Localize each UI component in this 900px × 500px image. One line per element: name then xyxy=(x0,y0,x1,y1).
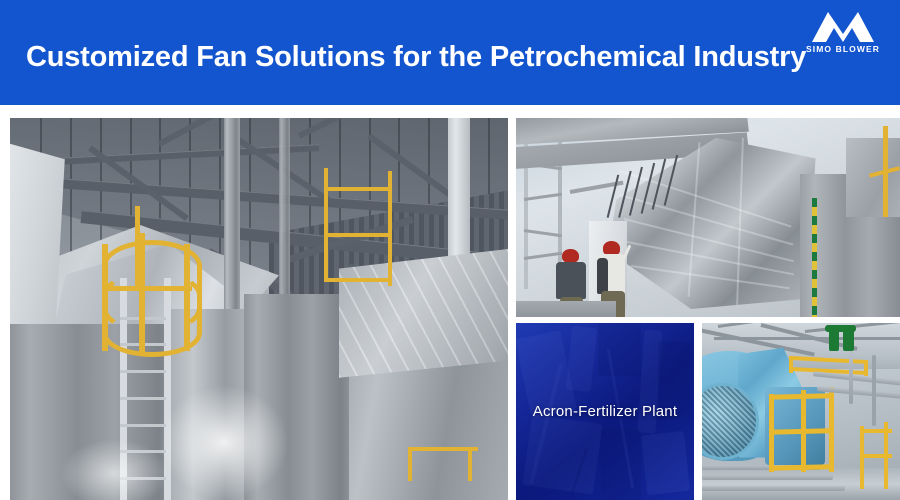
simo-blower-m-mark-icon xyxy=(804,10,882,42)
duct-inspection-photo xyxy=(516,118,900,317)
photo-caption-acron: Acron-Fertilizer Plant xyxy=(516,402,694,422)
gallery-photo-ductwork[interactable] xyxy=(516,118,900,317)
gallery-photo-fan[interactable] xyxy=(702,323,900,500)
brand-logo[interactable]: SIMO BLOWER xyxy=(804,10,882,58)
plant-interior-photo xyxy=(10,118,508,500)
brand-logo-text: SIMO BLOWER xyxy=(804,44,882,55)
centrifugal-fan-photo xyxy=(702,323,900,500)
gallery-photo-acron[interactable]: Acron-Fertilizer Plant xyxy=(516,323,694,500)
acron-fertilizer-plant-photo: Acron-Fertilizer Plant xyxy=(516,323,694,500)
header-banner: Customized Fan Solutions for the Petroch… xyxy=(0,0,900,105)
gallery-photo-main[interactable] xyxy=(10,118,508,500)
page-title: Customized Fan Solutions for the Petroch… xyxy=(26,40,806,74)
slide-root: Customized Fan Solutions for the Petroch… xyxy=(0,0,900,500)
photo-gallery: Acron-Fertilizer Plant xyxy=(10,118,900,500)
